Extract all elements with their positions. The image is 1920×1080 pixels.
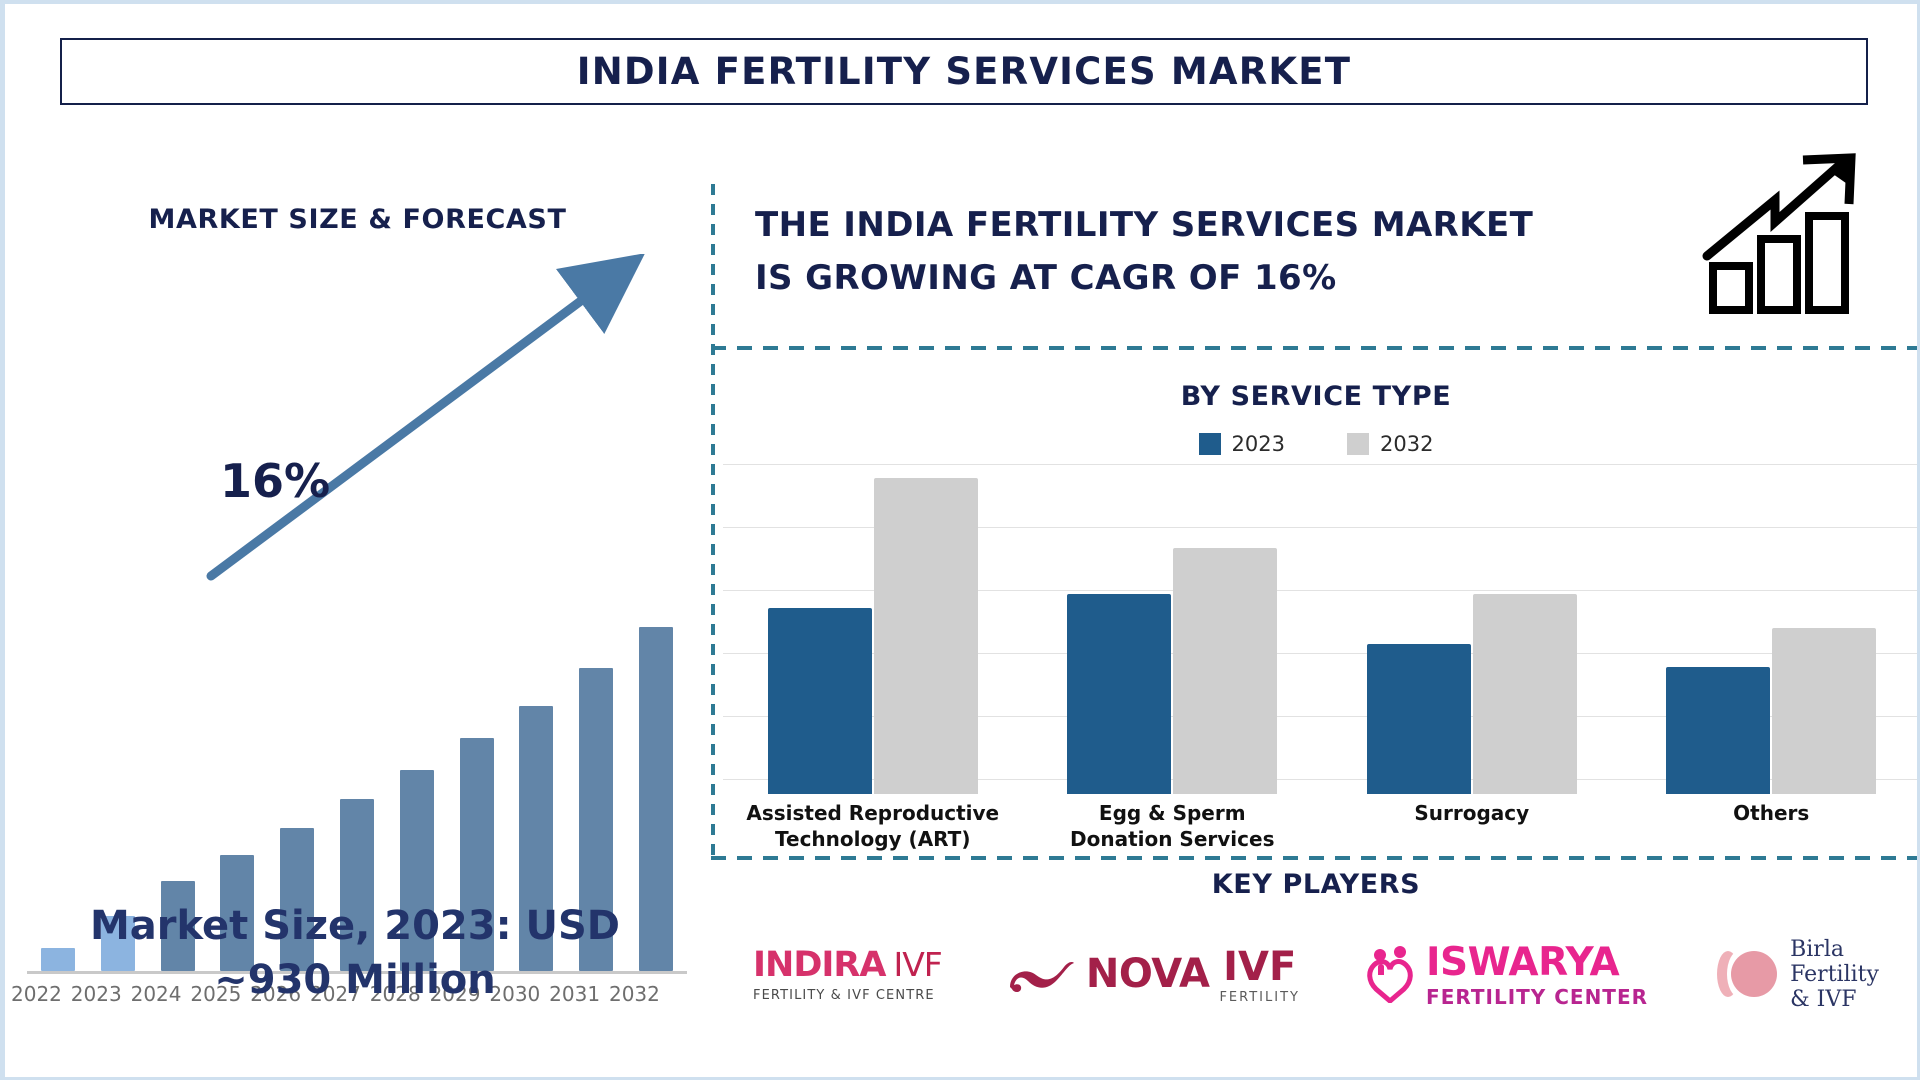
bar-surrogacy-2032 <box>1473 594 1577 794</box>
birla-name-line-1: Birla <box>1790 937 1879 962</box>
nova-ivf-block: IVF FERTILITY <box>1219 944 1300 1005</box>
chart-legend: 2023 2032 <box>711 432 1920 456</box>
bar-surrogacy-2023 <box>1367 644 1471 794</box>
by-service-type-title: BY SERVICE TYPE <box>711 381 1920 412</box>
nova-swoosh-icon <box>1006 951 1076 997</box>
growth-bar-chart-arrow-icon <box>1683 144 1883 314</box>
bar-others-2032 <box>1772 628 1876 794</box>
title-box: INDIA FERTILITY SERVICES MARKET <box>60 38 1868 105</box>
category-label-egg-sperm: Egg & SpermDonation Services <box>1023 800 1323 852</box>
service-type-bar-groups <box>723 464 1920 794</box>
market-size-callout: Market Size, 2023: USD ~930 Million <box>5 899 705 1007</box>
legend-swatch-2023 <box>1199 433 1221 455</box>
logo-indira-ivf: INDIRA IVF FERTILITY & IVF CENTRE <box>753 945 942 1003</box>
indira-wordmark-row: INDIRA IVF <box>753 945 942 985</box>
market-size-forecast-heading: MARKET SIZE & FORECAST <box>5 204 710 235</box>
birla-text-block: Birla Fertility & IVF <box>1790 937 1879 1012</box>
legend-swatch-2032 <box>1347 433 1369 455</box>
infographic-page: INDIA FERTILITY SERVICES MARKET MARKET S… <box>0 0 1920 1080</box>
nova-wordmark: NOVA <box>1086 951 1210 997</box>
service-type-axis-labels: Assisted ReproductiveTechnology (ART) Eg… <box>723 800 1920 852</box>
legend-label-2032: 2032 <box>1380 432 1433 456</box>
category-label-others: Others <box>1622 800 1920 852</box>
bar-group-others <box>1622 464 1920 794</box>
iswarya-text-block: ISWARYA FERTILITY CENTER <box>1426 940 1648 1009</box>
market-size-line-2: ~930 Million <box>5 953 705 1007</box>
legend-label-2023: 2023 <box>1232 432 1285 456</box>
birla-circles-icon <box>1712 944 1778 1004</box>
bar-art-2032 <box>874 478 978 794</box>
logo-iswarya-fertility-center: ISWARYA FERTILITY CENTER <box>1364 940 1648 1009</box>
horizontal-divider-top <box>711 346 1920 350</box>
logo-birla-fertility-ivf: Birla Fertility & IVF <box>1712 937 1879 1012</box>
indira-wordmark: INDIRA <box>753 945 885 985</box>
legend-item-2032: 2032 <box>1347 432 1433 456</box>
bar-art-2023 <box>768 608 872 794</box>
market-size-line-1: Market Size, 2023: USD <box>5 899 705 953</box>
iswarya-tagline: FERTILITY CENTER <box>1426 985 1648 1009</box>
category-label-art: Assisted ReproductiveTechnology (ART) <box>723 800 1023 852</box>
bar-group-surrogacy <box>1322 464 1622 794</box>
birla-name-line-2: Fertility <box>1790 962 1879 987</box>
bar-others-2023 <box>1666 667 1770 794</box>
indira-ivf-text: IVF <box>893 945 941 984</box>
iswarya-wordmark: ISWARYA <box>1426 940 1619 985</box>
bar-egg-sperm-2023 <box>1067 594 1171 794</box>
page-title: INDIA FERTILITY SERVICES MARKET <box>577 50 1351 93</box>
indira-tagline: FERTILITY & IVF CENTRE <box>753 988 935 1003</box>
bar-group-art <box>723 464 1023 794</box>
market-size-forecast-chart <box>27 404 687 974</box>
key-players-logos: INDIRA IVF FERTILITY & IVF CENTRE NOVA I… <box>711 919 1920 1029</box>
nova-tagline: FERTILITY <box>1219 990 1300 1005</box>
by-service-type-chart: Assisted ReproductiveTechnology (ART) Eg… <box>723 464 1920 854</box>
logo-nova-ivf: NOVA IVF FERTILITY <box>1006 944 1300 1005</box>
growth-headline-line-1: THE INDIA FERTILITY SERVICES MARKET <box>755 199 1695 252</box>
iswarya-heart-family-icon <box>1364 945 1420 1003</box>
left-panel: MARKET SIZE & FORECAST 16% <box>5 124 710 1054</box>
right-panel: THE INDIA FERTILITY SERVICES MARKET IS G… <box>711 124 1920 1054</box>
bar-group-egg-sperm-donation <box>1023 464 1323 794</box>
forecast-bars <box>27 411 687 971</box>
bar-egg-sperm-2032 <box>1173 548 1277 794</box>
key-players-title: KEY PLAYERS <box>711 869 1920 900</box>
birla-name-line-3: & IVF <box>1790 987 1879 1012</box>
category-label-surrogacy: Surrogacy <box>1322 800 1622 852</box>
horizontal-divider-bottom <box>711 856 1920 860</box>
nova-ivf-text: IVF <box>1223 944 1296 990</box>
growth-headline: THE INDIA FERTILITY SERVICES MARKET IS G… <box>755 199 1695 305</box>
growth-headline-line-2: IS GROWING AT CAGR OF 16% <box>755 252 1695 305</box>
legend-item-2023: 2023 <box>1199 432 1285 456</box>
